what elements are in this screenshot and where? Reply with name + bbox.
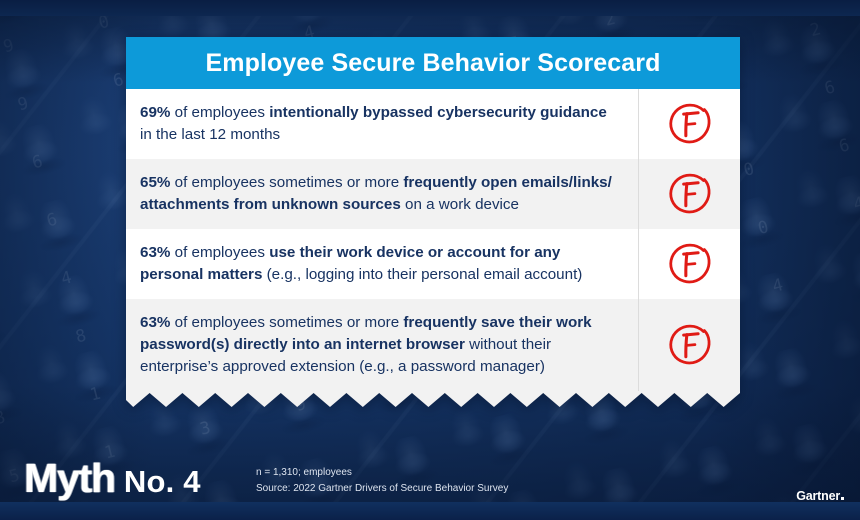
scorecard-row-text: 65% of employees sometimes or more frequ…: [126, 159, 638, 229]
scorecard-row: 69% of employees intentionally bypassed …: [126, 89, 740, 159]
circled-f-grade-icon: [663, 167, 717, 221]
scorecard-row-grade: [638, 299, 740, 391]
circled-f-grade-icon: [663, 97, 717, 151]
gartner-logo-text: Gartner: [796, 489, 840, 503]
myth-label: Myth No. 4: [24, 455, 201, 502]
scorecard-row-grade: [638, 89, 740, 159]
infographic-canvas: 7 3 9 0 2 6 4 1 8 5 3 7 2 9 6 0 4 8 1 5 …: [0, 0, 860, 520]
scorecard-row-text: 63% of employees use their work device o…: [126, 229, 638, 299]
torn-paper-edge: [126, 391, 740, 408]
circled-f-grade-icon: [663, 318, 717, 372]
myth-word: Myth: [24, 455, 115, 502]
source-notes: n = 1,310; employees Source: 2022 Gartne…: [256, 465, 508, 496]
scorecard-row-grade: [638, 229, 740, 299]
scorecard-row-text: 69% of employees intentionally bypassed …: [126, 89, 638, 159]
gartner-logo-dot: [841, 497, 844, 500]
myth-number: No. 4: [124, 464, 201, 500]
scorecard-body: 69% of employees intentionally bypassed …: [126, 89, 740, 391]
circled-f-grade-icon: [663, 237, 717, 291]
scorecard-header: Employee Secure Behavior Scorecard: [126, 37, 740, 89]
scorecard-row: 63% of employees use their work device o…: [126, 229, 740, 299]
scorecard-title: Employee Secure Behavior Scorecard: [206, 49, 661, 78]
background-top-band: [0, 0, 860, 16]
scorecard-row: 63% of employees sometimes or more frequ…: [126, 299, 740, 391]
source-note: Source: 2022 Gartner Drivers of Secure B…: [256, 481, 508, 497]
scorecard: Employee Secure Behavior Scorecard 69% o…: [126, 37, 740, 408]
scorecard-row: 65% of employees sometimes or more frequ…: [126, 159, 740, 229]
scorecard-row-text: 63% of employees sometimes or more frequ…: [126, 299, 638, 391]
footer: Myth No. 4 n = 1,310; employees Source: …: [0, 442, 860, 520]
sample-size-note: n = 1,310; employees: [256, 465, 508, 481]
scorecard-row-grade: [638, 159, 740, 229]
gartner-logo: Gartner: [796, 489, 844, 503]
